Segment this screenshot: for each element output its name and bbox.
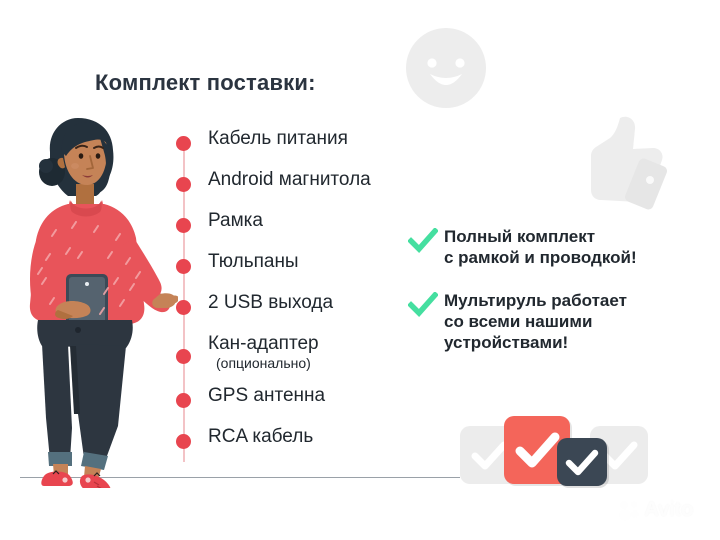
list-item: Кан-адаптер (опционально) <box>176 333 416 385</box>
list-item-label: 2 USB выхода <box>208 292 333 314</box>
list-item: RCA кабель <box>176 426 416 467</box>
avito-logo-icon <box>618 499 640 521</box>
benefit-line: устройствами! <box>444 332 698 353</box>
check-mark-icon <box>408 292 438 318</box>
list-item: Рамка <box>176 210 416 251</box>
list-item-label: Рамка <box>208 210 263 232</box>
list-item: Кабель питания <box>176 128 416 169</box>
thumbs-up-icon <box>576 112 672 212</box>
list-item-label: Тюльпаны <box>208 251 299 273</box>
list-item-label: RCA кабель <box>208 426 313 448</box>
included-items-list: Кабель питания Android магнитола Рамка Т… <box>176 128 416 467</box>
benefit-line: с рамкой и проводкой! <box>444 247 698 268</box>
bullet-dot-icon <box>176 259 191 274</box>
smiley-face-icon <box>404 26 488 110</box>
checkbox-cards-decoration <box>460 414 650 488</box>
benefits-section: Полный комплект с рамкой и проводкой! Му… <box>408 226 698 367</box>
list-item-sublabel: (опционально) <box>216 354 311 372</box>
benefit-line: Мультируль работает <box>444 290 698 311</box>
bullet-dot-icon <box>176 393 191 408</box>
person-illustration <box>8 108 178 488</box>
bullet-dot-icon <box>176 218 191 233</box>
bullet-dot-icon <box>176 300 191 315</box>
bullet-dot-icon <box>176 177 191 192</box>
page-title: Комплект поставки: <box>95 70 316 96</box>
benefit-line: со всеми нашими <box>444 311 698 332</box>
checkbox-card-navy <box>557 438 607 486</box>
bullet-dot-icon <box>176 434 191 449</box>
bullet-dot-icon <box>176 136 191 151</box>
bullet-dot-icon <box>176 349 191 364</box>
avito-watermark: Avito <box>618 498 693 522</box>
benefit-line: Полный комплект <box>444 226 698 247</box>
list-item-label: Кабель питания <box>208 128 348 150</box>
benefit-item: Полный комплект с рамкой и проводкой! <box>408 226 698 268</box>
list-item: Тюльпаны <box>176 251 416 292</box>
list-item-label: Android магнитола <box>208 169 371 191</box>
avito-wordmark: Avito <box>644 498 693 522</box>
benefit-item: Мультируль работает со всеми нашими устр… <box>408 290 698 353</box>
list-item-label: Кан-адаптер <box>208 333 319 355</box>
list-item: Android магнитола <box>176 169 416 210</box>
check-mark-icon <box>408 228 438 254</box>
list-item: GPS антенна <box>176 385 416 426</box>
list-item: 2 USB выхода <box>176 292 416 333</box>
product-info-card: Комплект поставки: Кабель питания Androi… <box>0 0 720 540</box>
benefit-text: Полный комплект с рамкой и проводкой! <box>444 226 698 268</box>
list-item-label: GPS антенна <box>208 385 325 407</box>
benefit-text: Мультируль работает со всеми нашими устр… <box>444 290 698 353</box>
